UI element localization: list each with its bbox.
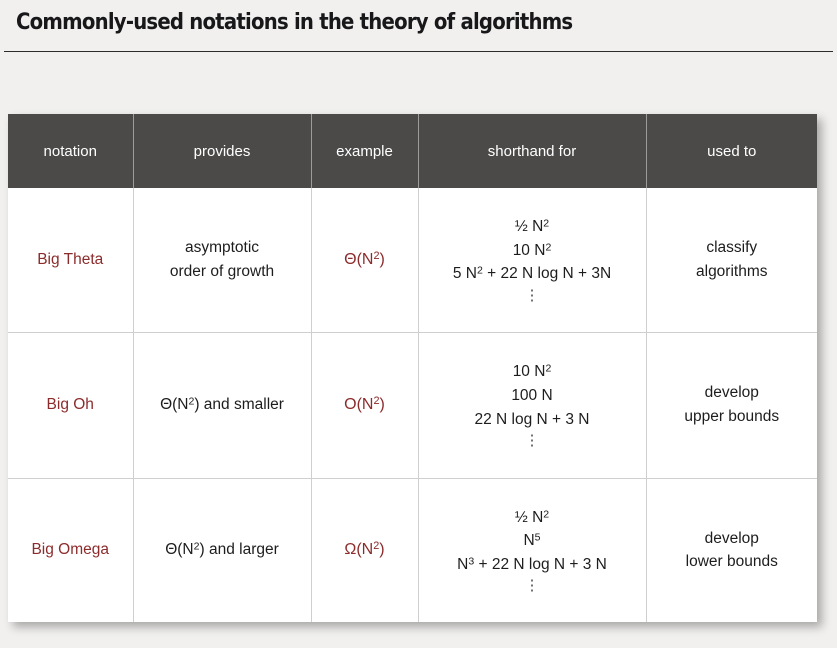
expression-line: 22 N log N + 3 N — [419, 408, 646, 432]
cell-used-to: classifyalgorithms — [646, 188, 817, 332]
expression-line: N5 — [419, 529, 646, 553]
cell-notation: Big Oh — [8, 332, 133, 478]
exponent: 2 — [373, 395, 379, 407]
expression-line: 100 N — [419, 384, 646, 408]
exponent: 5 — [535, 532, 541, 544]
expression-line: N3 + 22 N log N + 3 N — [419, 553, 646, 577]
exponent: 2 — [545, 241, 551, 253]
cell-example: Θ(N2) — [311, 188, 418, 332]
expression-line: ½ N2 — [419, 215, 646, 239]
cell-shorthand: ½ N210 N25 N2 + 22 N log N + 3N⋮ — [418, 188, 646, 332]
expression-line: 5 N2 + 22 N log N + 3N — [419, 262, 646, 286]
vertical-ellipsis-icon: ⋮ — [419, 288, 646, 305]
exponent: 2 — [188, 396, 194, 408]
table-body: Big Thetaasymptoticorder of growthΘ(N2)½… — [8, 188, 817, 622]
used-to-line: algorithms — [647, 260, 818, 284]
cell-notation: Big Theta — [8, 188, 133, 332]
expression-line: 10 N2 — [419, 360, 646, 384]
slide-header: Commonly-used notations in the theory of… — [0, 0, 837, 56]
cell-notation: Big Omega — [8, 478, 133, 622]
cell-shorthand: ½ N2N5N3 + 22 N log N + 3 N⋮ — [418, 478, 646, 622]
table-header: notation provides example shorthand for … — [8, 114, 817, 188]
exponent: 2 — [477, 265, 483, 277]
expression-line: Θ(N2) — [312, 248, 418, 272]
exponent: 2 — [543, 508, 549, 520]
column-header-used-to: used to — [646, 114, 817, 188]
exponent: 2 — [194, 541, 200, 553]
column-header-notation: notation — [8, 114, 133, 188]
used-to-line: lower bounds — [647, 550, 818, 574]
used-to-line: develop — [647, 527, 818, 551]
expression-line: 10 N2 — [419, 239, 646, 263]
cell-used-to: developlower bounds — [646, 478, 817, 622]
table-header-row: notation provides example shorthand for … — [8, 114, 817, 188]
cell-provides: Θ(N2) and smaller — [133, 332, 311, 478]
cell-provides: asymptoticorder of growth — [133, 188, 311, 332]
exponent: 2 — [545, 363, 551, 375]
expression-line: Θ(N2) and larger — [134, 538, 311, 562]
used-to-line: upper bounds — [647, 405, 818, 429]
provides-line: asymptotic — [134, 236, 311, 260]
exponent: 2 — [543, 218, 549, 230]
vertical-ellipsis-icon: ⋮ — [419, 433, 646, 450]
exponent: 2 — [373, 250, 379, 262]
vertical-ellipsis-icon: ⋮ — [419, 578, 646, 595]
column-header-provides: provides — [133, 114, 311, 188]
cell-example: O(N2) — [311, 332, 418, 478]
table-row: Big Thetaasymptoticorder of growthΘ(N2)½… — [8, 188, 817, 332]
table-row: Big OmegaΘ(N2) and largerΩ(N2)½ N2N5N3 +… — [8, 478, 817, 622]
table-row: Big OhΘ(N2) and smallerO(N2)10 N2100 N22… — [8, 332, 817, 478]
cell-used-to: developupper bounds — [646, 332, 817, 478]
exponent: 2 — [373, 540, 379, 552]
notation-table: notation provides example shorthand for … — [8, 114, 817, 622]
used-to-line: develop — [647, 381, 818, 405]
provides-line: order of growth — [134, 260, 311, 284]
page-title: Commonly-used notations in the theory of… — [16, 9, 572, 35]
title-divider — [4, 51, 833, 52]
column-header-shorthand: shorthand for — [418, 114, 646, 188]
column-header-example: example — [311, 114, 418, 188]
expression-line: ½ N2 — [419, 506, 646, 530]
expression-line: Ω(N2) — [312, 538, 418, 562]
cell-shorthand: 10 N2100 N22 N log N + 3 N⋮ — [418, 332, 646, 478]
expression-line: O(N2) — [312, 393, 418, 417]
cell-example: Ω(N2) — [311, 478, 418, 622]
cell-provides: Θ(N2) and larger — [133, 478, 311, 622]
used-to-line: classify — [647, 236, 818, 260]
expression-line: Θ(N2) and smaller — [134, 393, 311, 417]
exponent: 3 — [468, 555, 474, 567]
